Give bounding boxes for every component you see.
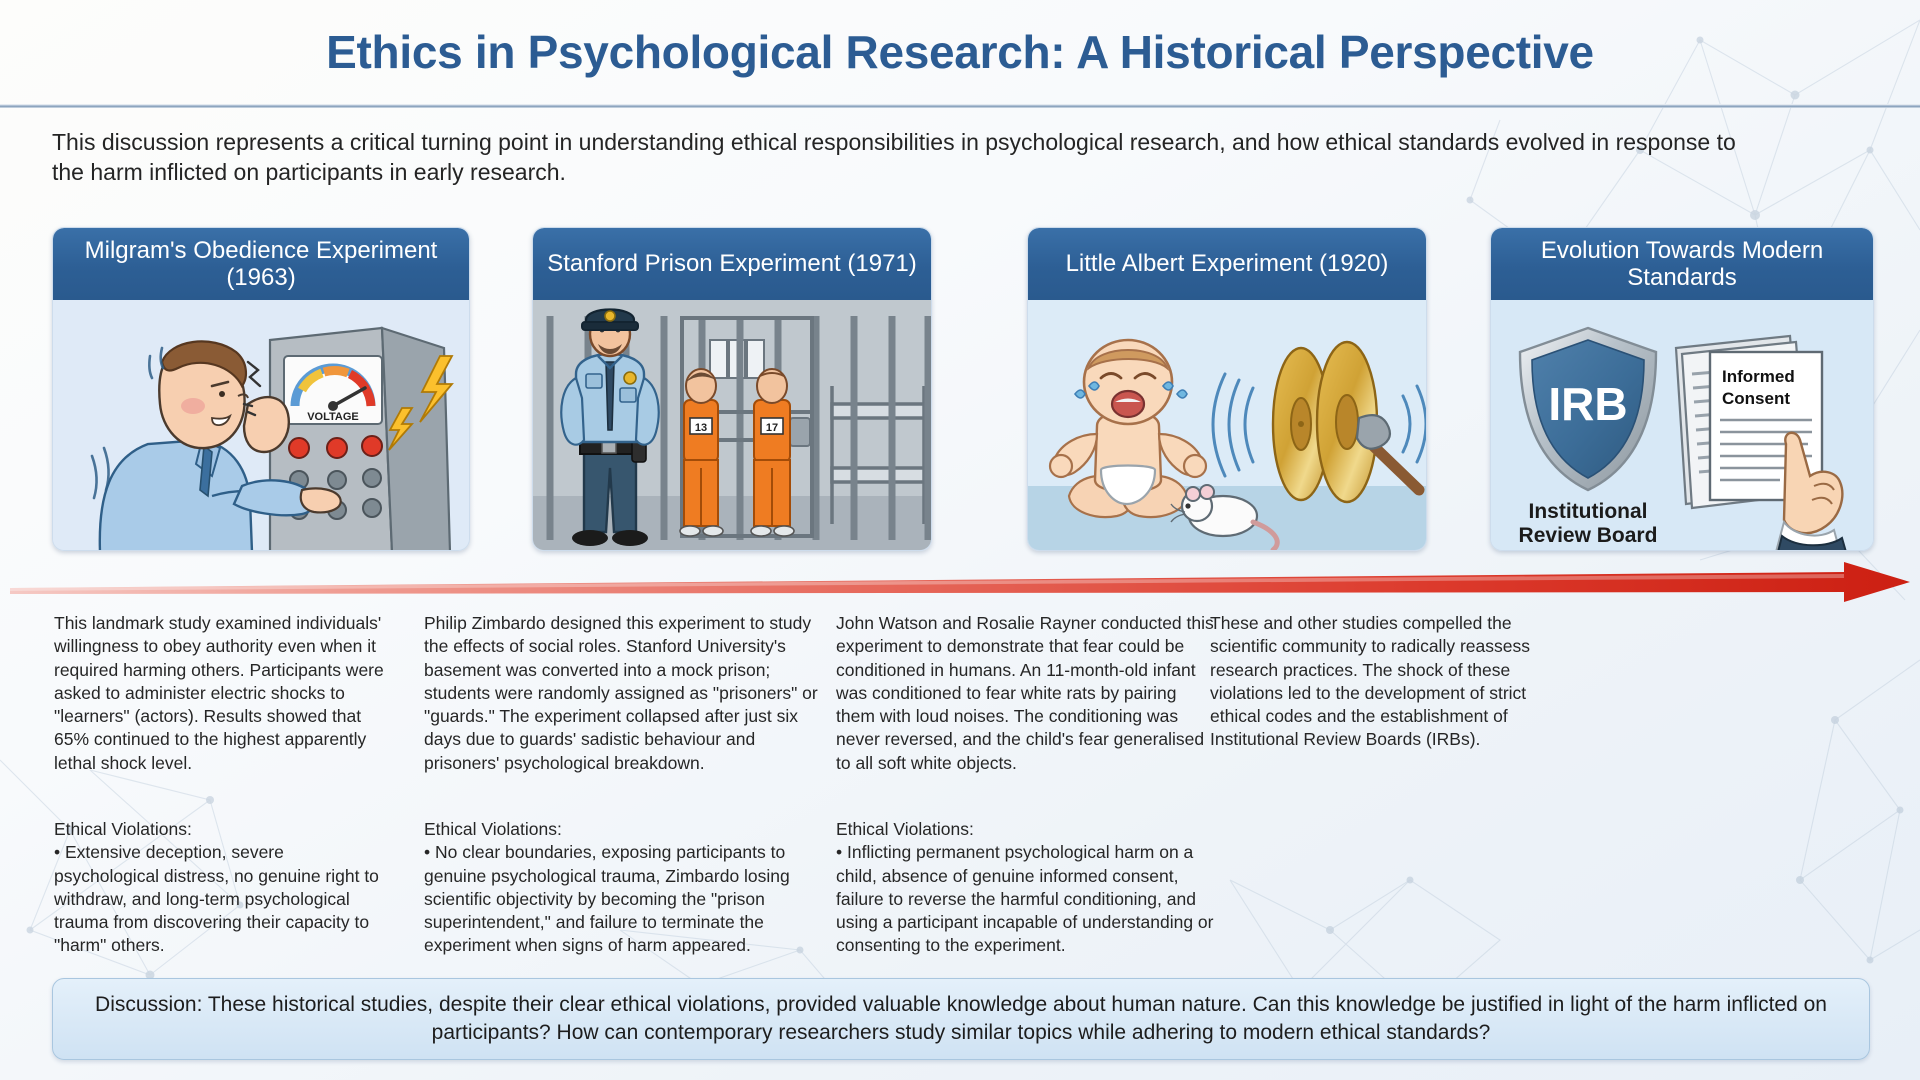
- discussion-banner: Discussion: These historical studies, de…: [52, 978, 1870, 1060]
- experiment-card-little-albert[interactable]: Little Albert Experiment (1920): [1027, 227, 1427, 551]
- violations-milgram: Ethical Violations: • Extensive deceptio…: [54, 818, 384, 958]
- timeline-arrow: [8, 562, 1912, 602]
- irb-shield-label: IRB: [1548, 378, 1627, 430]
- card-title-modern-standards: Evolution Towards Modern Standards: [1491, 228, 1873, 300]
- prisoner-number-label: 17: [766, 422, 778, 434]
- violations-body: • No clear boundaries, exposing particip…: [424, 841, 814, 957]
- violations-heading: Ethical Violations:: [424, 818, 814, 841]
- card-title-stanford-prison: Stanford Prison Experiment (1971): [533, 228, 931, 300]
- title-divider: [0, 104, 1920, 108]
- description-stanford-prison: Philip Zimbardo designed this experiment…: [424, 612, 819, 775]
- irb-caption-line-1: Institutional: [1529, 500, 1648, 523]
- stanford-prison-cell-illustration: 13 17: [533, 300, 931, 551]
- prisoner-number-label: 13: [695, 422, 707, 434]
- violations-stanford-prison: Ethical Violations: • No clear boundarie…: [424, 818, 814, 958]
- violations-little-albert: Ethical Violations: • Inflicting permane…: [836, 818, 1221, 958]
- experiment-card-milgram[interactable]: Milgram's Obedience Experiment (1963): [52, 227, 470, 551]
- milgram-shock-machine-illustration: VOLTAGE: [53, 300, 469, 551]
- violations-heading: Ethical Violations:: [54, 818, 384, 841]
- little-albert-baby-rat-illustration: [1028, 300, 1426, 551]
- title-area: Ethics in Psychological Research: A Hist…: [0, 0, 1920, 104]
- discussion-text: Discussion: These historical studies, de…: [75, 991, 1847, 1047]
- violations-heading: Ethical Violations:: [836, 818, 1221, 841]
- description-milgram: This landmark study examined individuals…: [54, 612, 399, 775]
- page-title: Ethics in Psychological Research: A Hist…: [326, 25, 1594, 79]
- card-title-little-albert: Little Albert Experiment (1920): [1028, 228, 1426, 300]
- irb-caption-line-2: Review Board: [1519, 524, 1658, 547]
- irb-informed-consent-illustration: IRB Institutional Review Board: [1491, 300, 1873, 551]
- violations-body: • Extensive deception, severe psychologi…: [54, 841, 384, 957]
- voltage-gauge-label: VOLTAGE: [307, 411, 359, 423]
- informed-consent-line-2: Consent: [1722, 389, 1790, 408]
- experiment-card-row: Milgram's Obedience Experiment (1963): [0, 227, 1920, 557]
- experiment-card-modern-standards[interactable]: Evolution Towards Modern Standards: [1490, 227, 1874, 551]
- infographic-page: Ethics in Psychological Research: A Hist…: [0, 0, 1920, 1080]
- informed-consent-line-1: Informed: [1722, 367, 1795, 386]
- violations-body: • Inflicting permanent psychological har…: [836, 841, 1221, 957]
- experiment-card-stanford-prison[interactable]: Stanford Prison Experiment (1971): [532, 227, 932, 551]
- intro-paragraph: This discussion represents a critical tu…: [52, 128, 1772, 188]
- description-little-albert: John Watson and Rosalie Rayner conducted…: [836, 612, 1216, 775]
- card-title-milgram: Milgram's Obedience Experiment (1963): [53, 228, 469, 300]
- description-modern-standards: These and other studies compelled the sc…: [1210, 612, 1570, 752]
